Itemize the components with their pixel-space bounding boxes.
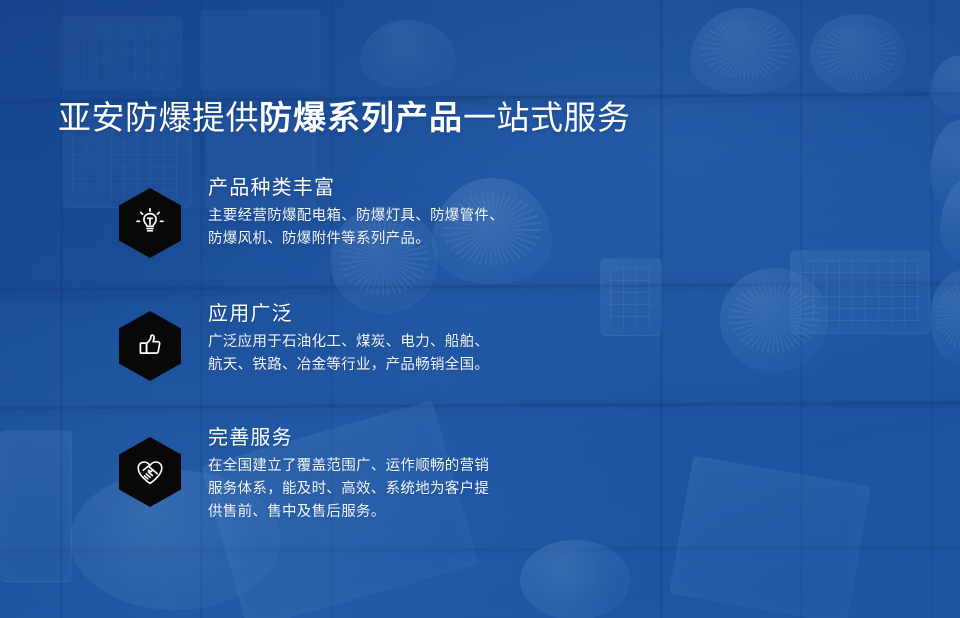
banner-content: 亚安防爆提供防爆系列产品一站式服务 产品种类丰富 [0, 0, 960, 618]
feature-title: 产品种类丰富 [208, 175, 700, 201]
headline-lead: 亚安防爆提供 [58, 99, 259, 136]
feature-desc-line: 防爆风机、防爆附件等系列产品。 [208, 228, 538, 251]
feature-desc-line: 供售前、售中及售后服务。 [208, 501, 538, 524]
feature-description: 广泛应用于石油化工、煤炭、电力、船舶、 航天、铁路、冶金等行业，产品畅销全国。 [208, 331, 538, 377]
feature-desc-line: 航天、铁路、冶金等行业，产品畅销全国。 [208, 354, 538, 377]
feature-desc-line: 广泛应用于石油化工、煤炭、电力、船舶、 [208, 331, 538, 354]
banner-headline: 亚安防爆提供防爆系列产品一站式服务 [58, 96, 631, 140]
feature-description: 主要经营防爆配电箱、防爆灯具、防爆管件、 防爆风机、防爆附件等系列产品。 [208, 205, 538, 251]
feature-item-wide-application: 应用广泛 广泛应用于石油化工、煤炭、电力、船舶、 航天、铁路、冶金等行业，产品畅… [0, 301, 700, 413]
lightbulb-icon [119, 188, 181, 258]
feature-list: 产品种类丰富 主要经营防爆配电箱、防爆灯具、防爆管件、 防爆风机、防爆附件等系列… [0, 175, 700, 537]
feature-item-product-variety: 产品种类丰富 主要经营防爆配电箱、防爆灯具、防爆管件、 防爆风机、防爆附件等系列… [0, 175, 700, 287]
thumbs-up-icon [119, 311, 181, 381]
headline-tail: 一站式服务 [463, 99, 631, 136]
headline-emphasis: 防爆系列产品 [259, 99, 463, 136]
feature-item-complete-service: 完善服务 在全国建立了覆盖范围广、运作顺畅的营销 服务体系，能及时、高效、系统地… [0, 425, 700, 537]
handshake-heart-icon [119, 437, 181, 507]
feature-desc-line: 服务体系，能及时、高效、系统地为客户提 [208, 478, 538, 501]
promo-banner: 亚安防爆提供防爆系列产品一站式服务 产品种类丰富 [0, 0, 960, 618]
feature-title: 应用广泛 [208, 301, 700, 327]
feature-desc-line: 在全国建立了覆盖范围广、运作顺畅的营销 [208, 455, 538, 478]
feature-desc-line: 主要经营防爆配电箱、防爆灯具、防爆管件、 [208, 205, 538, 228]
feature-title: 完善服务 [208, 425, 700, 451]
feature-description: 在全国建立了覆盖范围广、运作顺畅的营销 服务体系，能及时、高效、系统地为客户提 … [208, 455, 538, 524]
